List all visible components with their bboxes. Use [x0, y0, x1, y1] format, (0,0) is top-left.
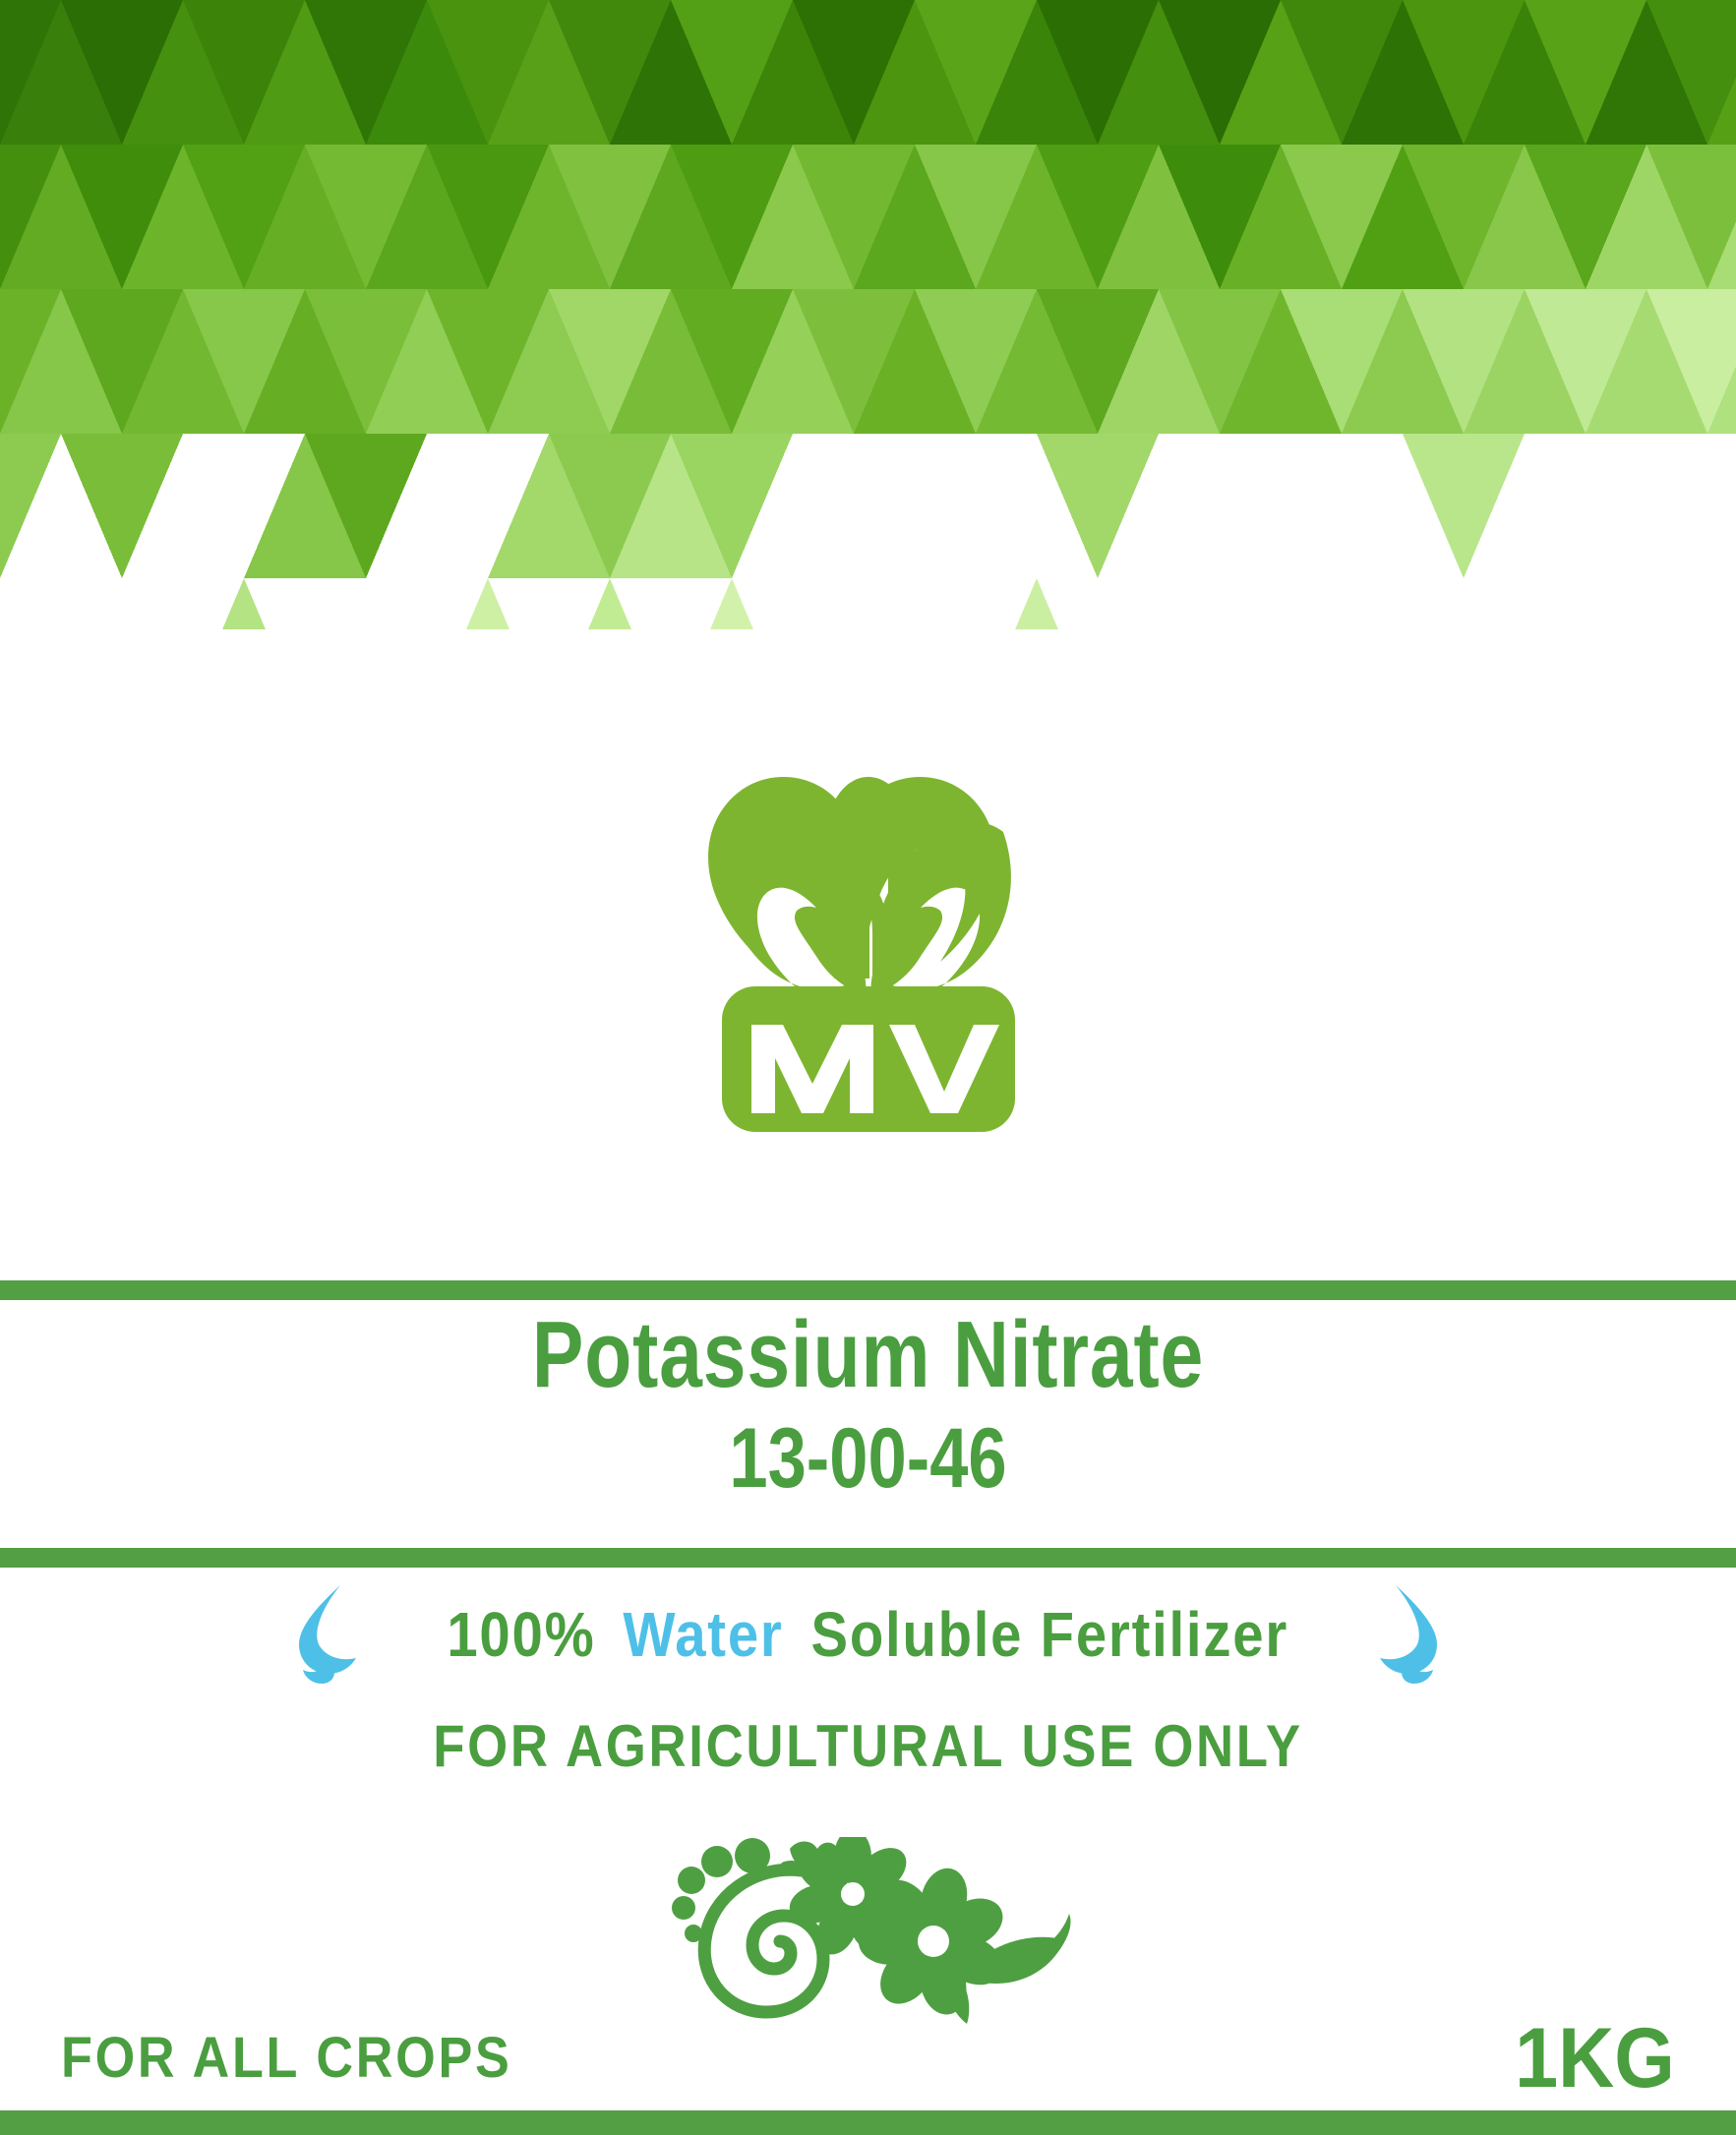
claims-block: 100% Water Soluble Fertilizer FOR AGRICU… — [0, 1583, 1736, 1776]
water-drop-icon-left — [289, 1583, 372, 1686]
product-label: Potassium Nitrate 13-00-46 100% Water So… — [0, 0, 1736, 2135]
water-soluble-claim-text: 100% Water Soluble Fertilizer — [448, 1603, 1289, 1666]
plant-leaf-logo-icon — [687, 767, 1050, 1141]
brand-logo — [0, 767, 1736, 1278]
water-drop-icon-right — [1364, 1583, 1447, 1686]
net-weight: 1KG — [1515, 2016, 1675, 2101]
agricultural-use-notice: FOR AGRICULTURAL USE ONLY — [104, 1717, 1632, 1776]
divider-top — [0, 1280, 1736, 1300]
page-title: Potassium Nitrate — [156, 1308, 1580, 1402]
claim-water: Water — [624, 1599, 784, 1670]
water-soluble-claim: 100% Water Soluble Fertilizer — [0, 1583, 1736, 1686]
divider-middle — [0, 1548, 1736, 1568]
npk-grade: 13-00-46 — [156, 1416, 1580, 1501]
crops-applicability: FOR ALL CROPS — [61, 2030, 512, 2087]
claim-percent: 100% — [448, 1599, 596, 1670]
divider-bottom — [0, 2110, 1736, 2135]
claim-soluble-fertilizer: Soluble Fertilizer — [811, 1599, 1288, 1670]
mosaic-header-graphic — [0, 0, 1736, 629]
floral-swirl-icon — [632, 1837, 1105, 2024]
headline-block: Potassium Nitrate 13-00-46 — [0, 1308, 1736, 1501]
footer-row: FOR ALL CROPS 1KG — [0, 2014, 1736, 2103]
floral-swirl-ornament — [0, 1837, 1736, 2024]
